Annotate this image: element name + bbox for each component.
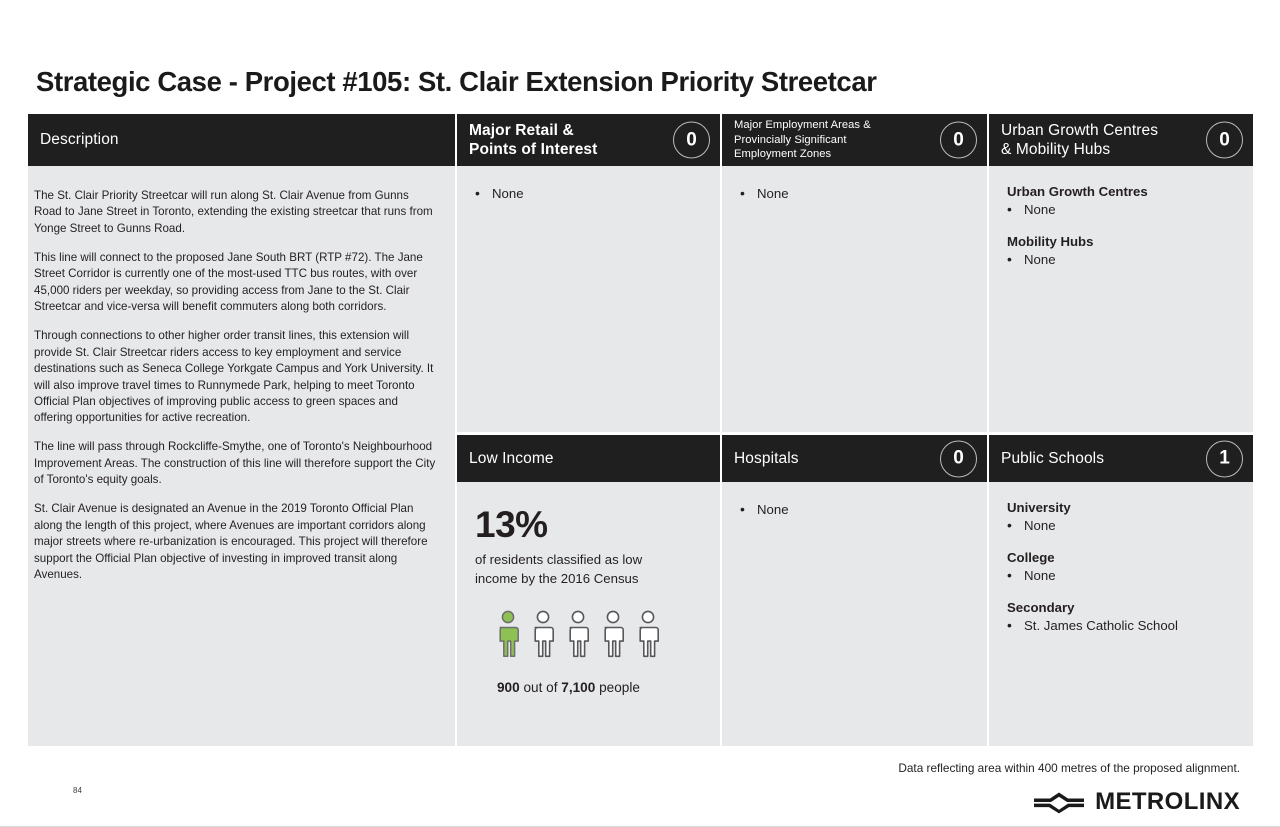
group-list: None [1003,566,1239,586]
panel-urban-growth-centres: Urban Growth Centres & Mobility Hubs 0 U… [989,114,1253,432]
panel-low-income-header: Low Income [457,435,720,482]
group-list: St. James Catholic School [1003,616,1239,636]
person-icon-filled [495,610,521,658]
panel-major-employment: Major Employment Areas & Provincially Si… [722,114,987,432]
footnote: Data reflecting area within 400 metres o… [898,761,1240,775]
list-item: None [736,500,973,520]
person-icon-empty [530,610,556,658]
group-label: Urban Growth Centres [1007,184,1239,199]
panel-major-employment-title: Major Employment Areas & Provincially Si… [734,118,871,162]
panel-hospitals-header: Hospitals 0 [722,435,987,482]
panel-low-income: Low Income 13% of residents classified a… [457,435,720,746]
panel-urban-growth-title-line2: & Mobility Hubs [1001,141,1110,158]
panel-major-retail-title-line1: Major Retail & [469,122,574,139]
person-icon-empty [635,610,661,658]
panel-public-schools-body: University None College None Secondary S… [989,482,1253,646]
panel-major-retail-header: Major Retail & Points of Interest 0 [457,114,720,166]
panel-public-schools-header: Public Schools 1 [989,435,1253,482]
panel-major-employment-title-line3: Employment Zones [734,148,831,160]
group-label: College [1007,550,1239,565]
group-list: None [1003,200,1239,220]
major-employment-list: None [736,184,973,204]
panel-hospitals: Hospitals 0 None [722,435,987,746]
hospitals-list: None [736,500,973,520]
low-income-percent: 13% [475,506,706,543]
panel-public-schools-title: Public Schools [1001,449,1104,468]
panel-description-header: Description [28,114,455,166]
panel-major-employment-title-line1: Major Employment Areas & [734,119,871,131]
group-label: University [1007,500,1239,515]
low-income-caption: of residents classified as low income by… [475,551,680,588]
group-label: Secondary [1007,600,1239,615]
panel-major-employment-body: None [722,166,987,215]
list-item: None [1003,516,1239,536]
panel-grid: Description The St. Clair Priority Stree… [28,114,1253,746]
secondary-group: Secondary St. James Catholic School [1003,600,1239,636]
description-paragraph: St. Clair Avenue is designated an Avenue… [34,501,437,583]
panel-major-retail: Major Retail & Points of Interest 0 None [457,114,720,432]
metrolinx-logo: METROLINX [1034,788,1240,816]
university-group: University None [1003,500,1239,536]
group-label: Mobility Hubs [1007,234,1239,249]
page-number: 84 [73,786,82,795]
panel-urban-growth-title-line1: Urban Growth Centres [1001,122,1158,139]
panel-description-title: Description [40,130,119,149]
low-income-unit: people [595,680,640,695]
panel-description: Description The St. Clair Priority Stree… [28,114,455,746]
panel-urban-growth-title: Urban Growth Centres & Mobility Hubs [1001,121,1158,160]
urban-growth-count-badge: 0 [1206,122,1243,159]
low-income-total: 7,100 [561,680,595,695]
college-group: College None [1003,550,1239,586]
list-item: None [471,184,706,204]
metrolinx-wordmark: METROLINX [1095,788,1240,816]
panel-major-retail-body: None [457,166,720,215]
panel-major-employment-header: Major Employment Areas & Provincially Si… [722,114,987,166]
list-item: St. James Catholic School [1003,616,1239,636]
low-income-pictogram [495,610,706,658]
panel-description-body: The St. Clair Priority Streetcar will ru… [28,166,455,606]
description-paragraph: This line will connect to the proposed J… [34,250,437,316]
list-item: None [1003,200,1239,220]
list-item: None [1003,250,1239,270]
panel-low-income-title: Low Income [469,449,554,468]
group-list: None [1003,516,1239,536]
description-paragraph: The line will pass through Rockcliffe-Sm… [34,439,437,488]
low-income-out-of: out of [520,680,562,695]
major-retail-list: None [471,184,706,204]
group-list: None [1003,250,1239,270]
panel-major-retail-title-line2: Points of Interest [469,141,597,158]
public-schools-count-badge: 1 [1206,440,1243,477]
panel-hospitals-title: Hospitals [734,449,799,468]
panel-major-employment-title-line2: Provincially Significant [734,134,847,146]
urban-growth-group: Urban Growth Centres None [1003,184,1239,220]
person-icon-empty [565,610,591,658]
panel-hospitals-body: None [722,482,987,531]
list-item: None [736,184,973,204]
description-paragraph: Through connections to other higher orde… [34,328,437,427]
hospitals-count-badge: 0 [940,440,977,477]
low-income-count: 900 [497,680,520,695]
page-title: Strategic Case - Project #105: St. Clair… [36,66,1236,98]
list-item: None [1003,566,1239,586]
slide-page: Strategic Case - Project #105: St. Clair… [0,0,1280,827]
major-retail-count-badge: 0 [673,122,710,159]
panel-major-retail-title: Major Retail & Points of Interest [469,121,597,160]
panel-public-schools: Public Schools 1 University None College… [989,435,1253,746]
major-employment-count-badge: 0 [940,122,977,159]
description-paragraph: The St. Clair Priority Streetcar will ru… [34,188,437,237]
low-income-footer: 900 out of 7,100 people [497,680,706,695]
panel-low-income-body: 13% of residents classified as low incom… [457,482,720,705]
panel-urban-growth-header: Urban Growth Centres & Mobility Hubs 0 [989,114,1253,166]
mobility-hubs-group: Mobility Hubs None [1003,234,1239,270]
panel-urban-growth-body: Urban Growth Centres None Mobility Hubs … [989,166,1253,281]
metrolinx-mark-icon [1034,790,1086,814]
person-icon-empty [600,610,626,658]
